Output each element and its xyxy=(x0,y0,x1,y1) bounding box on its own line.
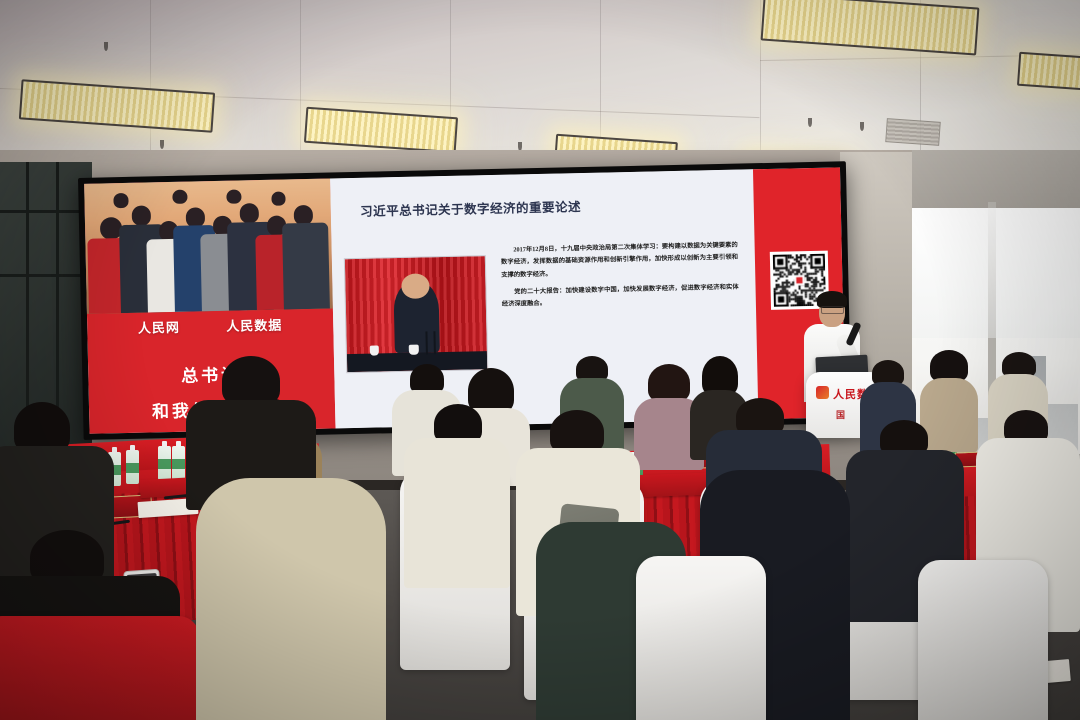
podium-subtext: 国 xyxy=(836,408,846,421)
water-bottle-2[interactable] xyxy=(126,450,139,484)
chair-front-far-right[interactable] xyxy=(918,560,1048,720)
screenshot-scene: 人民网 人民数据 总书记 和我们在一起 习近平总书记关于数字经济的重要论述 xyxy=(0,0,1080,720)
window-blind[interactable] xyxy=(912,150,1080,208)
renminwang-logo: 人民网 xyxy=(138,317,180,337)
water-bottle-4[interactable] xyxy=(172,446,185,480)
chair-front-left[interactable] xyxy=(0,616,200,720)
ceiling-vent xyxy=(885,118,941,146)
slide-title: 习近平总书记关于数字经济的重要论述 xyxy=(360,196,581,220)
group-photo xyxy=(84,179,332,314)
chair-front-right[interactable] xyxy=(636,556,766,720)
slide-body-text: 2017年12月8日，十九届中央政治局第二次集体学习：要构建以数据为关键要素的数… xyxy=(501,240,740,316)
audience-member-mid-2 xyxy=(404,404,510,584)
slide-paragraph-2: 党的二十大报告：加快建设数字中国，加快发展数字经济，促进数字经济和实体经济深度融… xyxy=(502,281,740,311)
sprinkler-5 xyxy=(160,140,164,149)
sprinkler-1 xyxy=(104,42,108,51)
slide-logos: 人民网 人民数据 xyxy=(87,313,333,338)
audience-member-front-4 xyxy=(196,478,386,720)
water-bottle-3[interactable] xyxy=(158,446,171,480)
renmin-data-logo: 人民数据 xyxy=(226,315,282,335)
slide-paragraph-1: 2017年12月8日，十九届中央政治局第二次集体学习：要构建以数据为关键要素的数… xyxy=(501,240,739,282)
sprinkler-4 xyxy=(860,122,864,131)
sprinkler-3 xyxy=(808,118,812,127)
xi-jinping-photo xyxy=(344,255,488,373)
